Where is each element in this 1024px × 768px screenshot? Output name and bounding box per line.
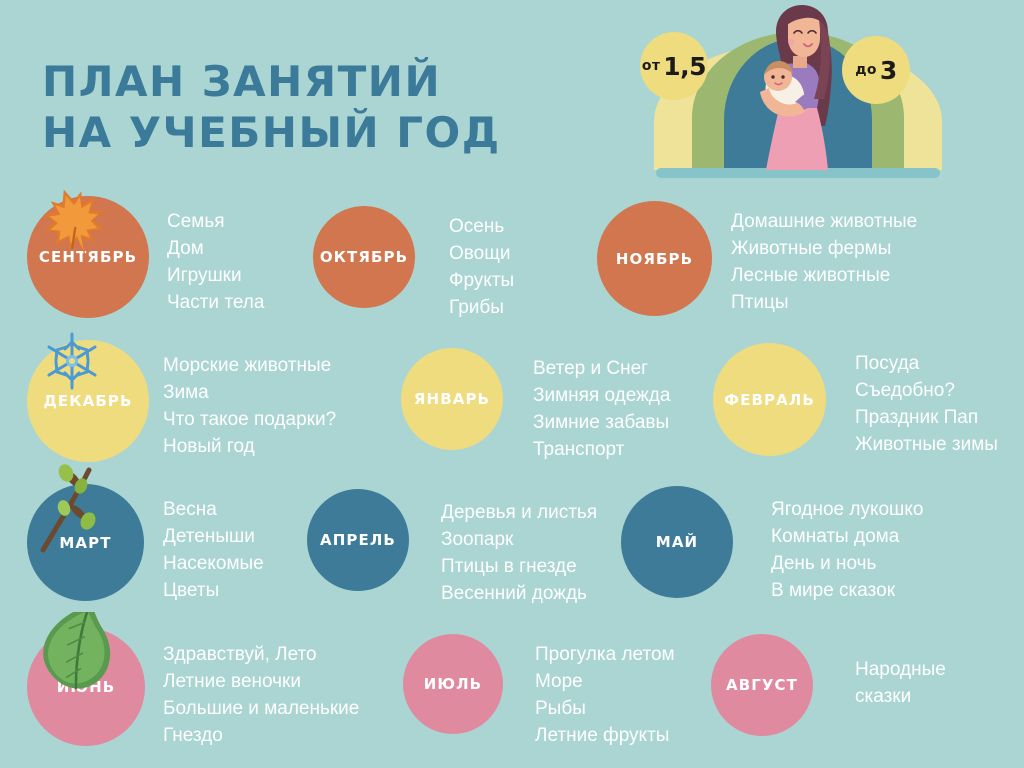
month-circle-ноябрь[interactable]: НОЯБРЬ [597,201,712,316]
month-row-winter: ДЕКАБРЬМорские животныеЗимаЧто такое под… [0,330,1024,472]
month-cell-февраль: ФЕВРАЛЬПосудаСъедобно?Праздник ПапЖивотн… [0,330,1024,472]
month-row-summer: ИЮНЬЗдравствуй, ЛетоЛетние веночкиБольши… [0,616,1024,764]
month-circle-май[interactable]: МАЙ [621,486,733,598]
topic-line: Народные [855,656,946,683]
month-circle-февраль[interactable]: ФЕВРАЛЬ [713,343,826,456]
age-badge-to-value: 3 [880,56,897,85]
age-badge-from-prefix: от [642,58,660,74]
month-topics-ноябрь: Домашние животныеЖивотные фермыЛесные жи… [731,208,917,317]
page-title: ПЛАН ЗАНЯТИЙ НА УЧЕБНЫЙ ГОД [42,56,501,158]
topic-line: Домашние животные [731,208,917,235]
month-label: НОЯБРЬ [616,250,693,268]
topic-line: Животные зимы [855,431,998,458]
age-badge-from-value: 1,5 [663,52,706,81]
topic-line: Съедобно? [855,377,998,404]
topic-line: День и ночь [771,550,923,577]
month-topics-август: Народныесказки [855,656,946,710]
age-badge-to-prefix: до [855,62,877,78]
topic-line: Праздник Пап [855,404,998,431]
month-circle-август[interactable]: АВГУСТ [711,634,813,736]
month-topics-май: Ягодное лукошкоКомнаты домаДень и ночьВ … [771,496,923,605]
topic-line: Лесные животные [731,262,917,289]
age-badge-to: до 3 [842,36,910,104]
month-row-spring: МАРТВеснаДетенышиНасекомыеЦветыАПРЕЛЬДер… [0,474,1024,616]
month-row-autumn: СЕНТЯБРЬСемьяДомИгрушкиЧасти телаОКТЯБРЬ… [0,188,1024,328]
topic-line: Ягодное лукошко [771,496,923,523]
topic-line: сказки [855,683,946,710]
month-cell-май: МАЙЯгодное лукошкоКомнаты домаДень и ноч… [0,474,1024,616]
age-badge-from: от 1,5 [640,32,708,100]
topic-line: Комнаты дома [771,523,923,550]
month-cell-ноябрь: НОЯБРЬДомашние животныеЖивотные фермыЛес… [0,188,1024,328]
topic-line: Птицы [731,289,917,316]
month-topics-февраль: ПосудаСъедобно?Праздник ПапЖивотные зимы [855,350,998,459]
topic-line: Посуда [855,350,998,377]
topic-line: В мире сказок [771,577,923,604]
month-label: ФЕВРАЛЬ [724,391,815,409]
month-label: МАЙ [656,533,698,551]
month-label: АВГУСТ [726,676,798,694]
topic-line: Животные фермы [731,235,917,262]
month-cell-август: АВГУСТНародныесказки [0,616,1024,764]
